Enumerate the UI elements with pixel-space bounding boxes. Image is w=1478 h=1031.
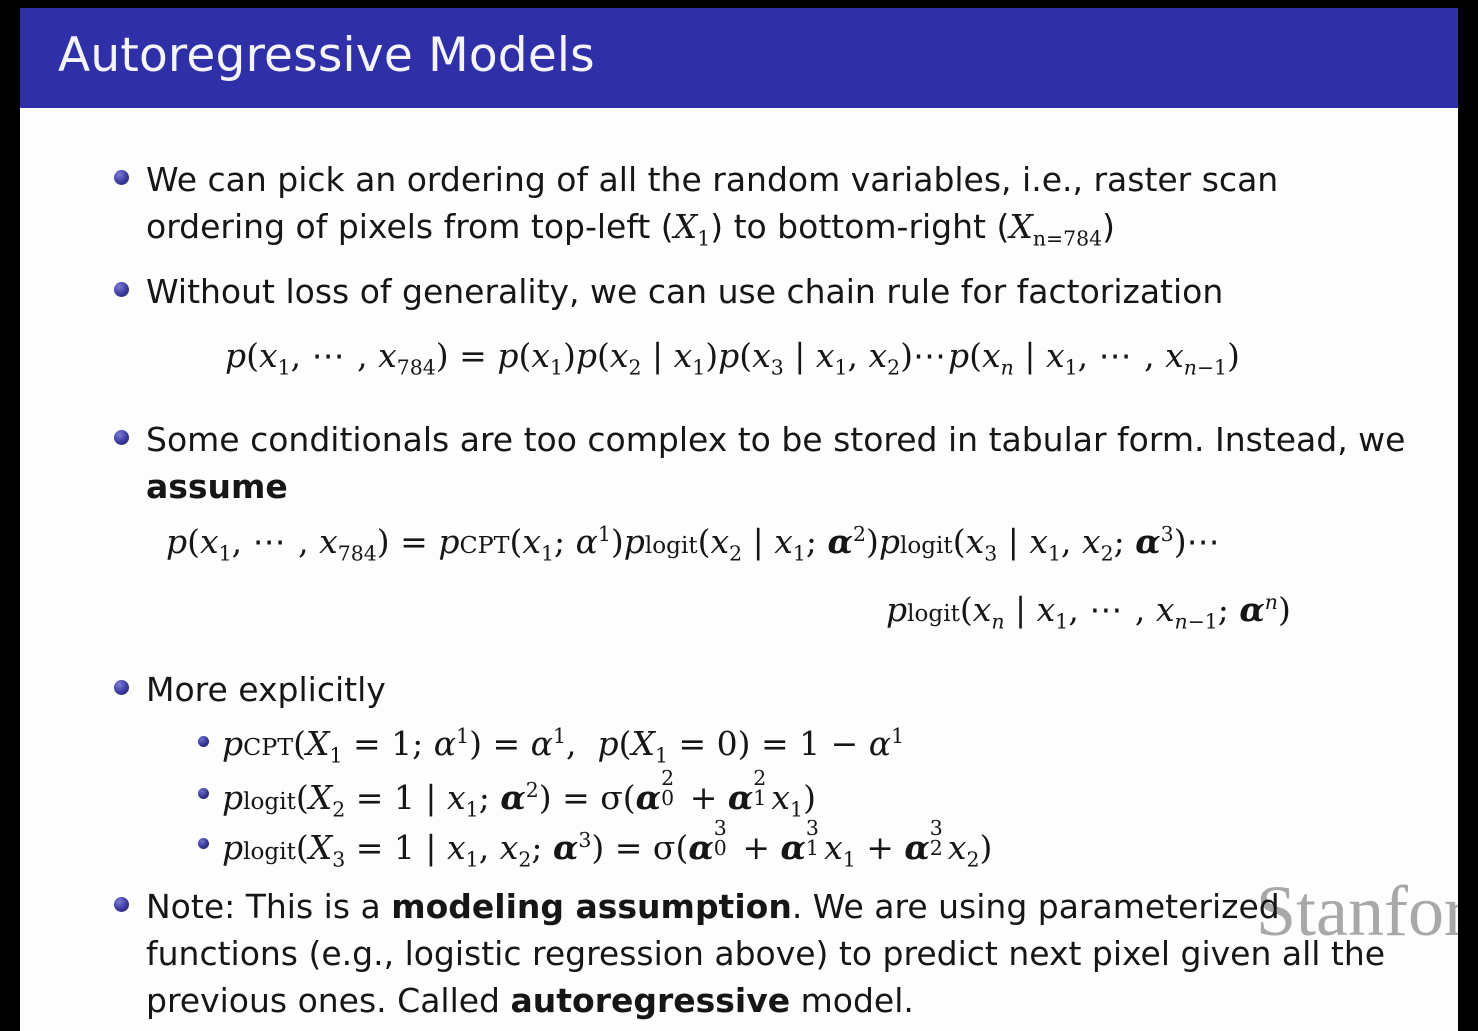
- bullet-dot-icon: [114, 282, 129, 297]
- bullet-text-chain-rule: Without loss of generality, we can use c…: [146, 268, 1223, 315]
- sub-bullet-dot-icon: [198, 838, 209, 849]
- equation-assumed-line1: p(x1, ⋯ , x784) = pCPT(x1; α1)plogit(x2 …: [166, 522, 1222, 561]
- slide-content: Stanfor We can pick an ordering of all t…: [20, 108, 1458, 1031]
- bullet-text-more-explicitly: More explicitly: [146, 666, 386, 713]
- bullet-ordering-line2-end: ): [1102, 207, 1115, 246]
- bullet-ordering-line2-pre: ordering of pixels from top-left (: [146, 207, 674, 246]
- sub-bullet-cpt: pCPT(X1 = 1; α1) = α1, p(X1 = 0) = 1 − α…: [198, 724, 1298, 763]
- note-line1-a: Note: This is a: [146, 887, 391, 926]
- math-xn-var: Xn=784: [1009, 207, 1102, 246]
- xn-subscript: n=784: [1033, 227, 1102, 251]
- bullet-dot-icon: [114, 897, 129, 912]
- bullet-item-note: Note: This is a modeling assumption. We …: [114, 883, 1454, 1024]
- bullet-item-too-complex: Some conditionals are too complex to be …: [114, 416, 1444, 510]
- sub-bullet-dot-icon: [198, 788, 209, 799]
- note-line3-b: model.: [790, 981, 914, 1020]
- slide-title: Autoregressive Models: [58, 28, 595, 83]
- bullet-dot-icon: [114, 170, 129, 185]
- equation-logit-x3-explicit: plogit(X3 = 1 | x1, x2; α3) = σ(α30 + α3…: [222, 826, 992, 867]
- bullet-dot-icon: [114, 680, 129, 695]
- sub-bullet-logit-x3: plogit(X3 = 1 | x1, x2; α3) = σ(α30 + α3…: [198, 826, 1348, 867]
- bullet-dot-icon: [114, 430, 129, 445]
- equation-assumed-line2: plogit(xn | x1, ⋯ , xn−1; αn): [886, 590, 1291, 629]
- slide-title-bar: Autoregressive Models: [20, 8, 1458, 108]
- too-complex-assume: assume: [146, 467, 288, 506]
- bullet-item-more-explicitly: More explicitly: [114, 666, 1014, 713]
- note-line3-a: previous ones. Called: [146, 981, 511, 1020]
- bullet-ordering-line1: We can pick an ordering of all the rando…: [146, 160, 1278, 199]
- note-modeling-assumption: modeling assumption: [391, 887, 792, 926]
- note-line2: functions (e.g., logistic regression abo…: [146, 934, 1385, 973]
- bullet-text-ordering: We can pick an ordering of all the rando…: [146, 156, 1278, 250]
- xn-symbol: X: [1009, 207, 1033, 246]
- equation-chain-rule: p(x1, ⋯ , x784) = p(x1)p(x2 | x1)p(x3 | …: [225, 336, 1240, 375]
- slide-frame: Autoregressive Models Stanfor We can pic…: [20, 8, 1458, 1031]
- equation-logit-x2-explicit: plogit(X2 = 1 | x1; α2) = σ(α20 + α21x1): [222, 776, 816, 817]
- x1-subscript: 1: [697, 227, 710, 251]
- too-complex-line1: Some conditionals are too complex to be …: [146, 420, 1405, 459]
- x1-symbol: X: [674, 207, 698, 246]
- math-x1-var: X1: [674, 207, 711, 246]
- note-line1-b: . We are using parameterized: [792, 887, 1280, 926]
- note-autoregressive: autoregressive: [511, 981, 791, 1020]
- bullet-text-too-complex: Some conditionals are too complex to be …: [146, 416, 1405, 510]
- bullet-item-chain-rule: Without loss of generality, we can use c…: [114, 268, 1434, 315]
- sub-bullet-logit-x2: plogit(X2 = 1 | x1; α2) = σ(α20 + α21x1): [198, 776, 1298, 817]
- equation-cpt-explicit: pCPT(X1 = 1; α1) = α1, p(X1 = 0) = 1 − α…: [222, 724, 904, 763]
- bullet-item-ordering: We can pick an ordering of all the rando…: [114, 156, 1434, 250]
- bullet-ordering-line2-mid: ) to bottom-right (: [710, 207, 1009, 246]
- sub-bullet-dot-icon: [198, 736, 209, 747]
- bullet-text-note: Note: This is a modeling assumption. We …: [146, 883, 1385, 1024]
